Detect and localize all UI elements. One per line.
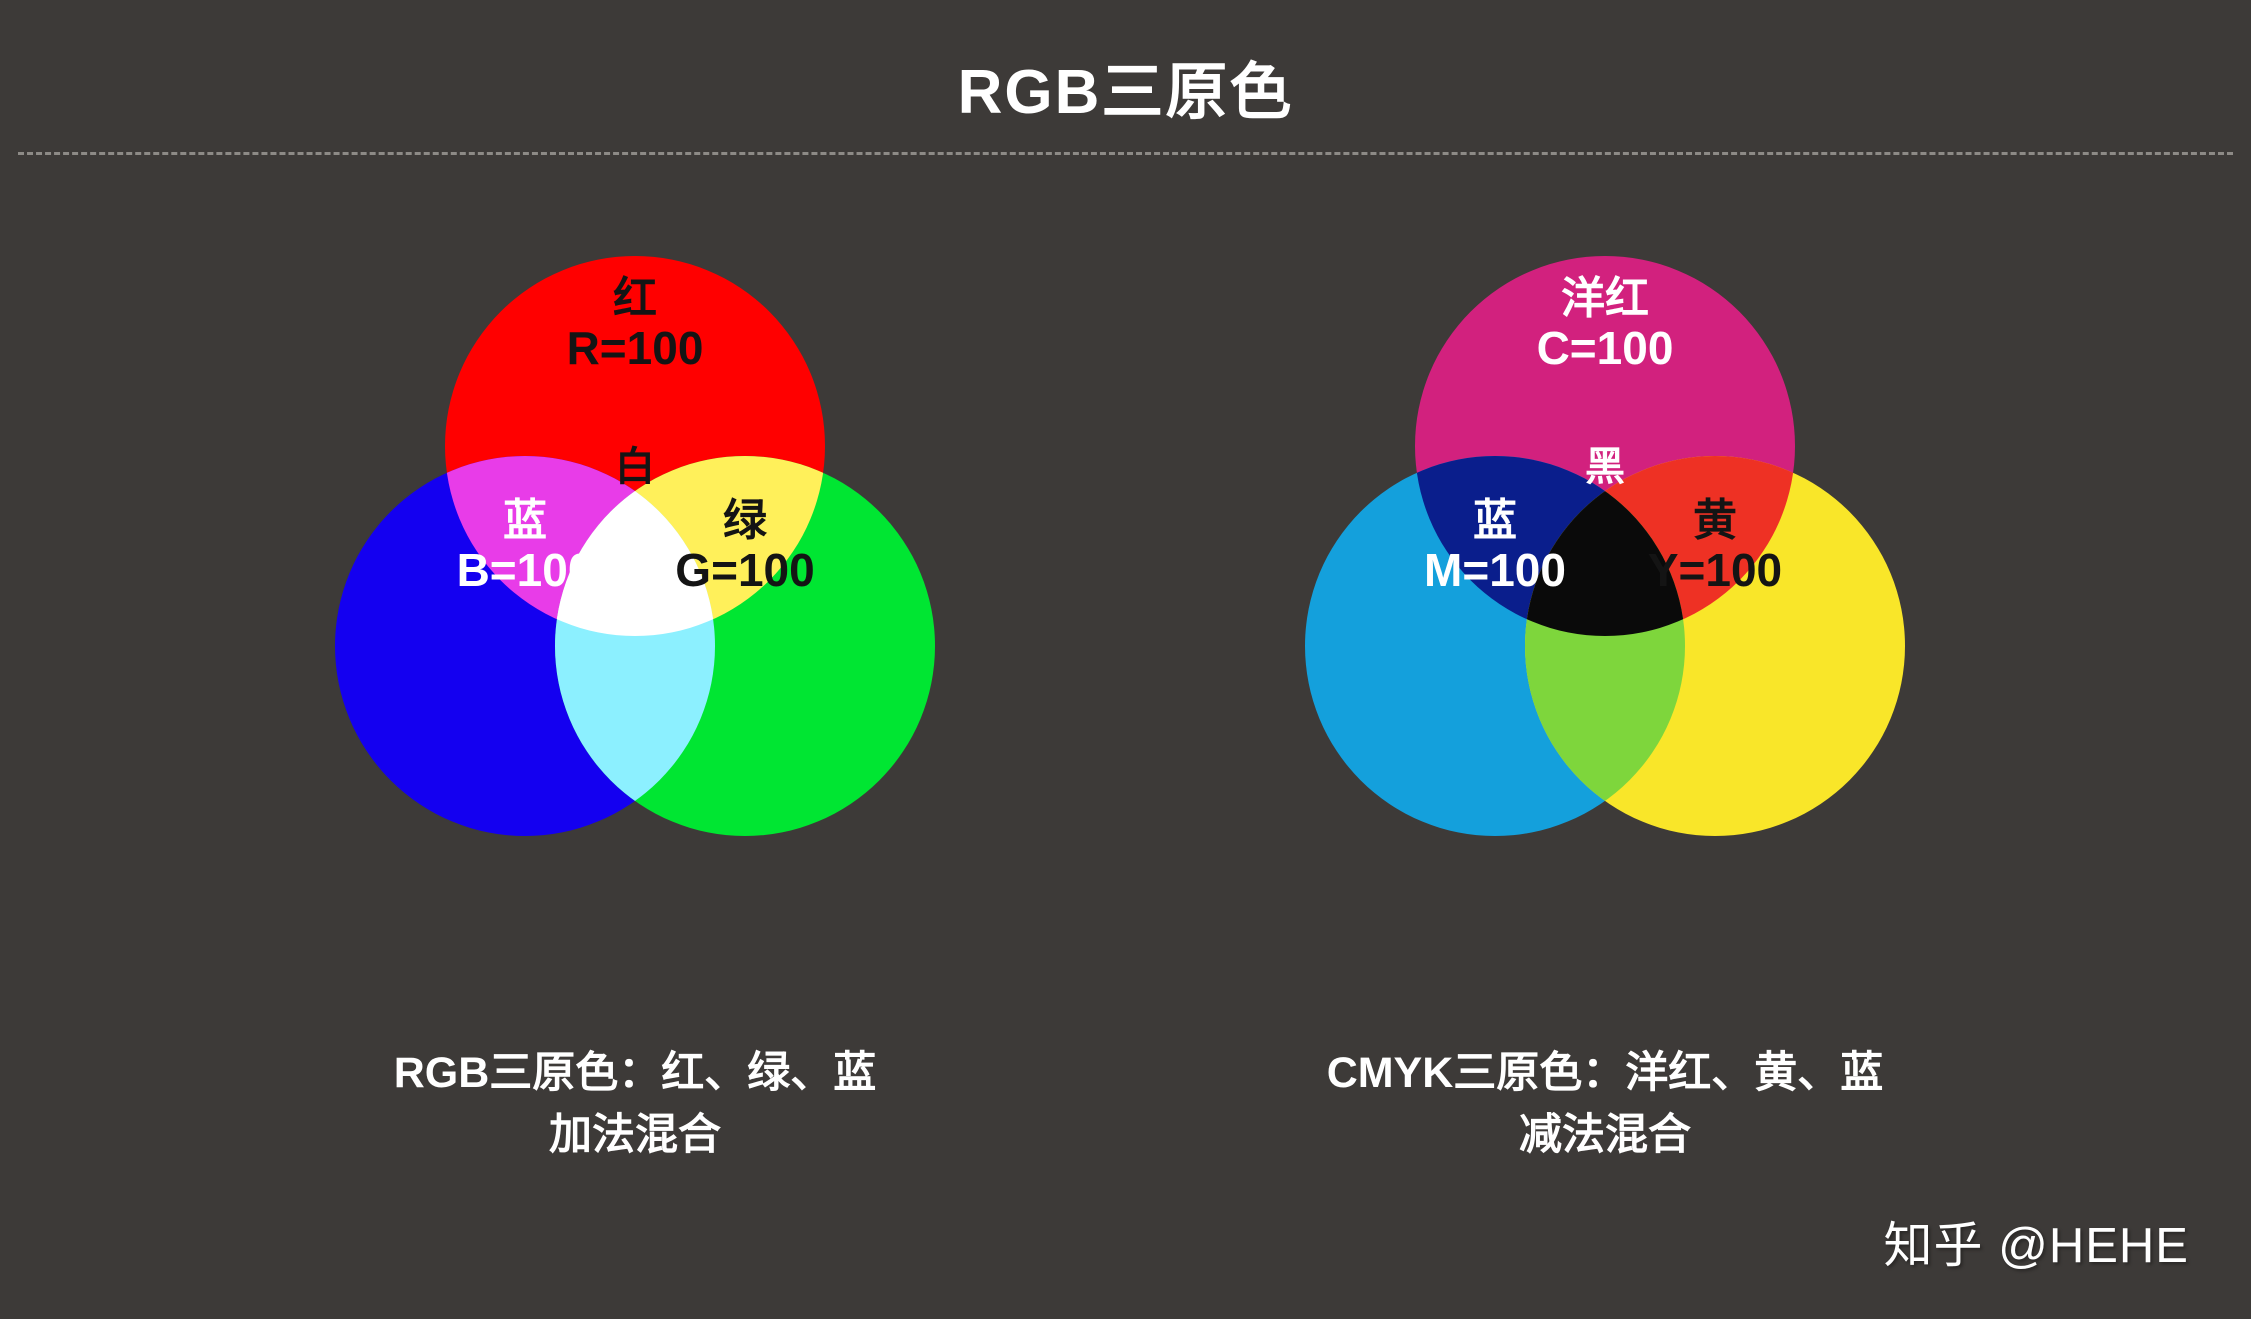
caption-cmyk: CMYK三原色：洋红、黄、蓝 减法混合 bbox=[1215, 1042, 1995, 1167]
venn-svg-rgb bbox=[255, 196, 1015, 916]
caption-rgb: RGB三原色：红、绿、蓝 加法混合 bbox=[245, 1042, 1025, 1167]
header-divider bbox=[18, 152, 2233, 155]
venn-diagram-cmyk: 洋红 C=100 蓝 M=100 黄 Y=100 黑 bbox=[1225, 196, 1985, 916]
page-title: RGB三原色 bbox=[0, 62, 2251, 124]
venn-diagram-rgb: 红 R=100 蓝 B=100 绿 G=100 白 bbox=[255, 196, 1015, 916]
venn-svg-cmyk bbox=[1225, 196, 1985, 916]
caption-cmyk-line2: 减法混合 bbox=[1215, 1104, 1995, 1166]
color-theory-infographic: RGB三原色 bbox=[0, 0, 2251, 1319]
caption-rgb-line1: RGB三原色：红、绿、蓝 bbox=[245, 1042, 1025, 1104]
caption-cmyk-line1: CMYK三原色：洋红、黄、蓝 bbox=[1215, 1042, 1995, 1104]
caption-rgb-line2: 加法混合 bbox=[245, 1104, 1025, 1166]
watermark: 知乎 @HEHE bbox=[1884, 1206, 2190, 1277]
